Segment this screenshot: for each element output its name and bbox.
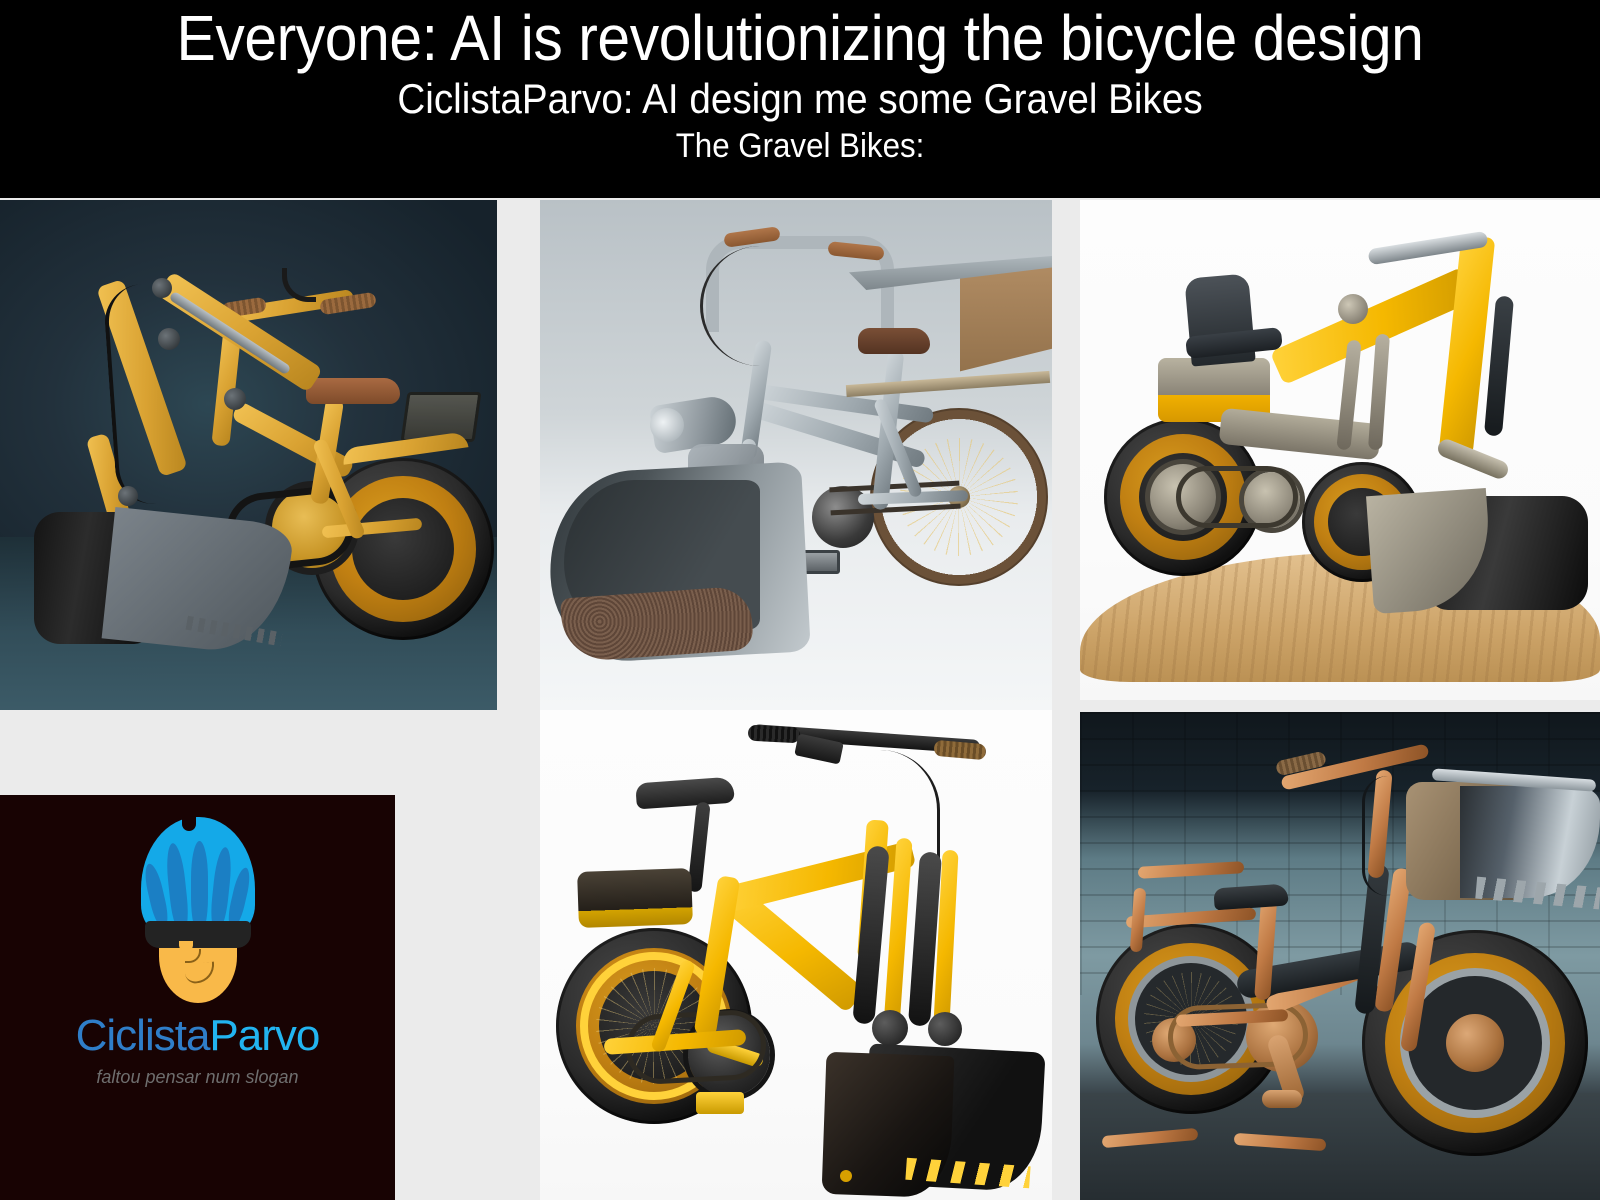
meme-caption-line-2: CiclistaParvo: AI design me some Gravel … (64, 77, 1536, 121)
bike-4-pedal (696, 1092, 744, 1114)
bike-3-chain (1176, 466, 1298, 528)
brand-wordmark-first: Ciclista (76, 1011, 210, 1060)
brand-logo-panel: CiclistaParvo faltou pensar num slogan (0, 795, 395, 1200)
bike-4-bucket-bolt (840, 1170, 852, 1182)
bike-image-1 (0, 200, 497, 710)
meme-header: Everyone: AI is revolutionizing the bicy… (0, 0, 1600, 198)
bike-image-2 (540, 200, 1052, 710)
bike-3-arm-pivot (1338, 294, 1368, 324)
meme-caption-line-1: Everyone: AI is revolutionizing the bicy… (64, 6, 1536, 71)
brand-wordmark-second: Parvo (209, 1011, 319, 1060)
bike-1-pivot-1 (152, 278, 172, 298)
meme-caption-line-3: The Gravel Bikes: (64, 129, 1536, 165)
bike-1-pivot-2 (158, 328, 180, 350)
bike-1-pivot-3 (224, 388, 246, 410)
bike-2-gravel-load (560, 585, 754, 662)
bike-4-pivot-left (872, 1010, 908, 1046)
bike-1-hydraulic-hose (102, 282, 193, 507)
helmet-top-notch (182, 815, 196, 831)
bike-5-front-hub (1446, 1014, 1504, 1072)
bike-4-grip-left (748, 725, 801, 744)
bike-5-pedal (1262, 1090, 1302, 1108)
sunglasses-icon (145, 921, 251, 948)
bike-1-saddle (306, 378, 400, 404)
bike-4-pivot-right (928, 1012, 962, 1046)
bike-1-pivot-4 (118, 486, 138, 506)
bike-image-3 (1080, 200, 1600, 700)
bike-2-pedal (802, 550, 840, 574)
bike-4-rear-pad (577, 868, 693, 928)
bike-image-4 (540, 710, 1052, 1200)
brand-wordmark: CiclistaParvo (0, 1011, 395, 1061)
brand-slogan: faltou pensar num slogan (0, 1067, 395, 1088)
cyclist-helmet-icon (133, 817, 263, 1007)
bike-2-cable (700, 246, 820, 366)
bike-image-5 (1080, 712, 1600, 1200)
